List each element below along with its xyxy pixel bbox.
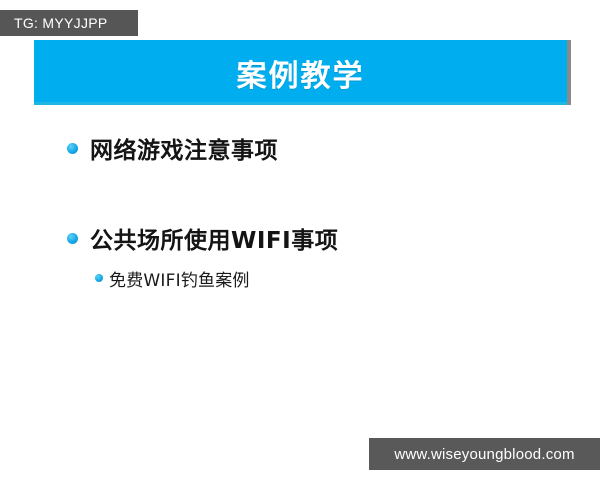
list-item-label: 公共场所使用WIFI事项 [90, 221, 338, 255]
telegram-watermark-badge: TG: MYYJJPP [0, 10, 138, 36]
bullet-dot-icon [67, 233, 78, 244]
site-watermark-badge: www.wiseyoungblood.com [369, 438, 600, 470]
list-item-label: 网络游戏注意事项 [90, 131, 278, 165]
list-spacer [0, 166, 600, 220]
list-item-label: 免费WIFI钓鱼案例 [109, 266, 250, 291]
bullet-dot-icon [67, 143, 78, 154]
site-watermark-label: www.wiseyoungblood.com [394, 446, 574, 463]
list-item: 公共场所使用WIFI事项 [0, 220, 600, 256]
list-item: 网络游戏注意事项 [0, 130, 600, 166]
list-item: 免费WIFI钓鱼案例 [0, 264, 600, 292]
list-spacer [0, 256, 600, 264]
title-banner: 案例教学 [34, 40, 567, 105]
page-title: 案例教学 [34, 40, 567, 105]
bullet-list: 网络游戏注意事项 公共场所使用WIFI事项 免费WIFI钓鱼案例 [0, 130, 600, 292]
bullet-dot-icon [95, 274, 103, 282]
slide-canvas: TG: MYYJJPP 案例教学 网络游戏注意事项 公共场所使用WIFI事项 免… [0, 0, 600, 480]
telegram-watermark-label: TG: MYYJJPP [14, 15, 108, 31]
banner-right-shadow [567, 40, 571, 105]
